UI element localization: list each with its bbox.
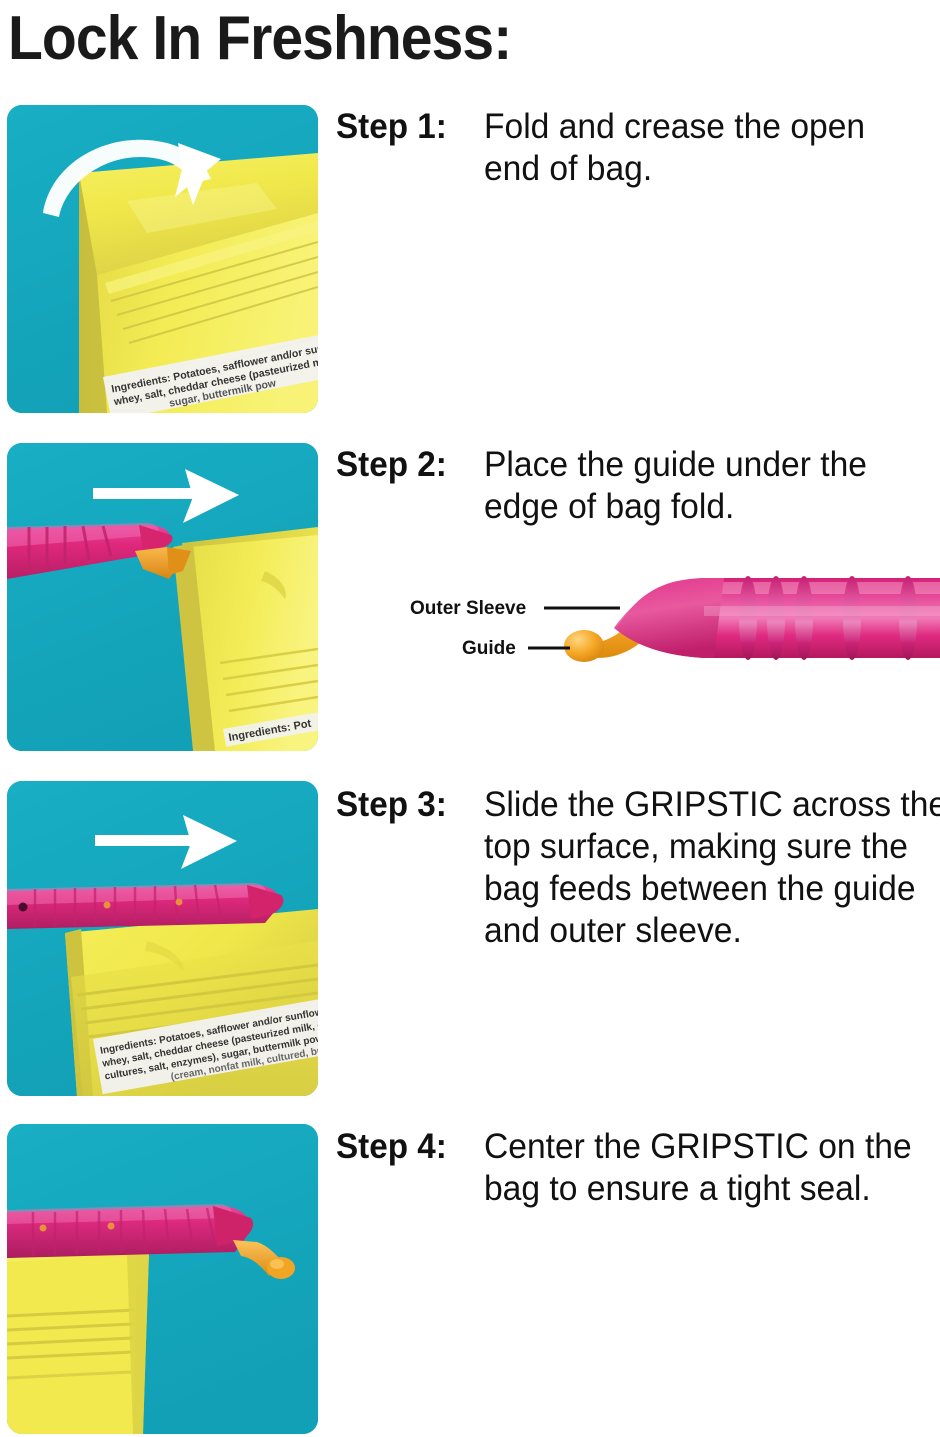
- step-1-line-2: end of bag.: [484, 148, 922, 190]
- gripstic-parts-diagram: Outer Sleeve Guide: [404, 566, 940, 674]
- step-4: Step 4: Center the GRIPSTIC on the bag t…: [336, 1126, 940, 1210]
- vent-dot: [176, 899, 183, 906]
- step-3-line-1: Slide the GRIPSTIC across the: [484, 784, 940, 826]
- step-2-line-1: Place the guide under the: [484, 444, 922, 486]
- vent-dot: [104, 902, 111, 909]
- step-1-line-1: Fold and crease the open: [484, 106, 922, 148]
- vent-dot: [40, 1225, 47, 1232]
- step-3-illustration-panel: Ingredients: Potatoes, safflower and/or …: [7, 781, 318, 1096]
- outer-sleeve-part: [614, 576, 940, 660]
- step-4-line-2: bag to ensure a tight seal.: [484, 1168, 922, 1210]
- chip-bag: [7, 1252, 149, 1434]
- step-1-text: Fold and crease the open end of bag.: [484, 106, 922, 190]
- outer-sleeve-label: Outer Sleeve: [410, 598, 526, 619]
- step-3-text: Slide the GRIPSTIC across the top surfac…: [484, 784, 940, 952]
- page-title: Lock In Freshness:: [8, 2, 511, 76]
- step-2-line-2: edge of bag fold.: [484, 486, 922, 528]
- step-2: Step 2: Place the guide under the edge o…: [336, 444, 940, 528]
- step-1: Step 1: Fold and crease the open end of …: [336, 106, 940, 190]
- gripstic-tool: [7, 883, 283, 929]
- step-4-line-1: Center the GRIPSTIC on the: [484, 1126, 922, 1168]
- step-1-label: Step 1:: [336, 106, 477, 148]
- step-3-line-2: top surface, making sure the: [484, 826, 940, 868]
- step-3-line-3: bag feeds between the guide: [484, 868, 940, 910]
- step-1-illustration-panel: Ingredients: Potatoes, safflower and/or …: [7, 105, 318, 413]
- step-4-label: Step 4:: [336, 1126, 477, 1168]
- step-3: Step 3: Slide the GRIPSTIC across the to…: [336, 784, 940, 952]
- guide-ball: [564, 630, 604, 662]
- step-4-text: Center the GRIPSTIC on the bag to ensure…: [484, 1126, 922, 1210]
- step-3-line-4: and outer sleeve.: [484, 910, 940, 952]
- guide-callout: Guide: [462, 638, 570, 659]
- slide-gripstic-photo: Ingredients: Potatoes, safflower and/or …: [7, 781, 318, 1096]
- step-2-illustration-panel: Ingredients: Pot: [7, 443, 318, 751]
- end-hole: [19, 903, 28, 912]
- vent-dot: [108, 1223, 115, 1230]
- guide-label: Guide: [462, 638, 516, 659]
- step-3-label: Step 3:: [336, 784, 477, 826]
- step-2-text: Place the guide under the edge of bag fo…: [484, 444, 922, 528]
- bag-fold-photo: Ingredients: Potatoes, safflower and/or …: [7, 105, 318, 413]
- guide-under-fold-photo: Ingredients: Pot: [7, 443, 318, 751]
- step-4-illustration-panel: [7, 1124, 318, 1434]
- outer-sleeve-callout: Outer Sleeve: [410, 598, 620, 619]
- centered-gripstic-photo: [7, 1124, 318, 1434]
- step-2-label: Step 2:: [336, 444, 477, 486]
